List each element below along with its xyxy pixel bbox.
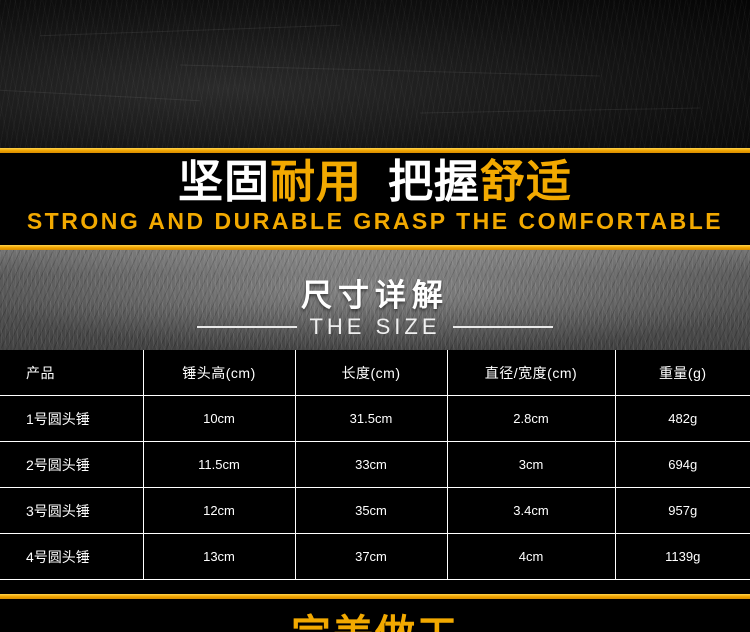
cell-diameter: 4cm xyxy=(447,534,615,580)
headline: 坚固耐用把握舒适 xyxy=(0,156,750,208)
cell-head-height: 11.5cm xyxy=(143,442,295,488)
cell-length: 35cm xyxy=(295,488,447,534)
header-cell-weight: 重量(g) xyxy=(615,350,750,396)
headline-part2: 耐用 xyxy=(270,156,362,207)
section-title-band: 尺寸详解 THE SIZE xyxy=(0,250,750,350)
cell-product: 2号圆头锤 xyxy=(0,442,143,488)
subtitle-rule-left xyxy=(197,326,297,328)
cell-head-height: 13cm xyxy=(143,534,295,580)
gold-rule-top xyxy=(0,148,750,153)
table-row: 2号圆头锤 11.5cm 33cm 3cm 694g xyxy=(0,442,750,488)
sub-headline: STRONG AND DURABLE GRASP THE COMFORTABLE xyxy=(0,208,750,235)
headline-part4: 舒适 xyxy=(480,156,572,207)
cell-product: 1号圆头锤 xyxy=(0,396,143,442)
size-table-wrap: 产品 锤头高(cm) 长度(cm) 直径/宽度(cm) 重量(g) 1号圆头锤 … xyxy=(0,350,750,582)
table-header-row: 产品 锤头高(cm) 长度(cm) 直径/宽度(cm) 重量(g) xyxy=(0,350,750,396)
section-subtitle: THE SIZE xyxy=(309,314,440,340)
cell-weight: 1139g xyxy=(615,534,750,580)
top-texture-band xyxy=(0,0,750,148)
cell-length: 37cm xyxy=(295,534,447,580)
header-cell-product: 产品 xyxy=(0,350,143,396)
headline-part3: 把握 xyxy=(388,156,480,207)
cell-length: 31.5cm xyxy=(295,396,447,442)
cell-length: 33cm xyxy=(295,442,447,488)
section-subtitle-wrap: THE SIZE xyxy=(0,314,750,340)
footer-text: 完美做工 xyxy=(0,602,750,632)
cell-weight: 957g xyxy=(615,488,750,534)
subtitle-rule-right xyxy=(453,326,553,328)
size-table: 产品 锤头高(cm) 长度(cm) 直径/宽度(cm) 重量(g) 1号圆头锤 … xyxy=(0,350,750,580)
cell-weight: 694g xyxy=(615,442,750,488)
header-cell-diameter: 直径/宽度(cm) xyxy=(447,350,615,396)
header-cell-head-height: 锤头高(cm) xyxy=(143,350,295,396)
cell-diameter: 3.4cm xyxy=(447,488,615,534)
cell-diameter: 3cm xyxy=(447,442,615,488)
product-detail-page: 坚固耐用把握舒适 STRONG AND DURABLE GRASP THE CO… xyxy=(0,0,750,632)
cell-product: 4号圆头锤 xyxy=(0,534,143,580)
table-row: 4号圆头锤 13cm 37cm 4cm 1139g xyxy=(0,534,750,580)
cell-product: 3号圆头锤 xyxy=(0,488,143,534)
footer-gold-rule xyxy=(0,594,750,599)
table-row: 3号圆头锤 12cm 35cm 3.4cm 957g xyxy=(0,488,750,534)
cell-head-height: 10cm xyxy=(143,396,295,442)
cell-diameter: 2.8cm xyxy=(447,396,615,442)
headline-block: 坚固耐用把握舒适 STRONG AND DURABLE GRASP THE CO… xyxy=(0,148,750,250)
table-row: 1号圆头锤 10cm 31.5cm 2.8cm 482g xyxy=(0,396,750,442)
headline-part1: 坚固 xyxy=(178,156,270,207)
cell-head-height: 12cm xyxy=(143,488,295,534)
cell-weight: 482g xyxy=(615,396,750,442)
section-title: 尺寸详解 xyxy=(0,270,750,315)
footer-band: 完美做工 xyxy=(0,582,750,632)
header-cell-length: 长度(cm) xyxy=(295,350,447,396)
